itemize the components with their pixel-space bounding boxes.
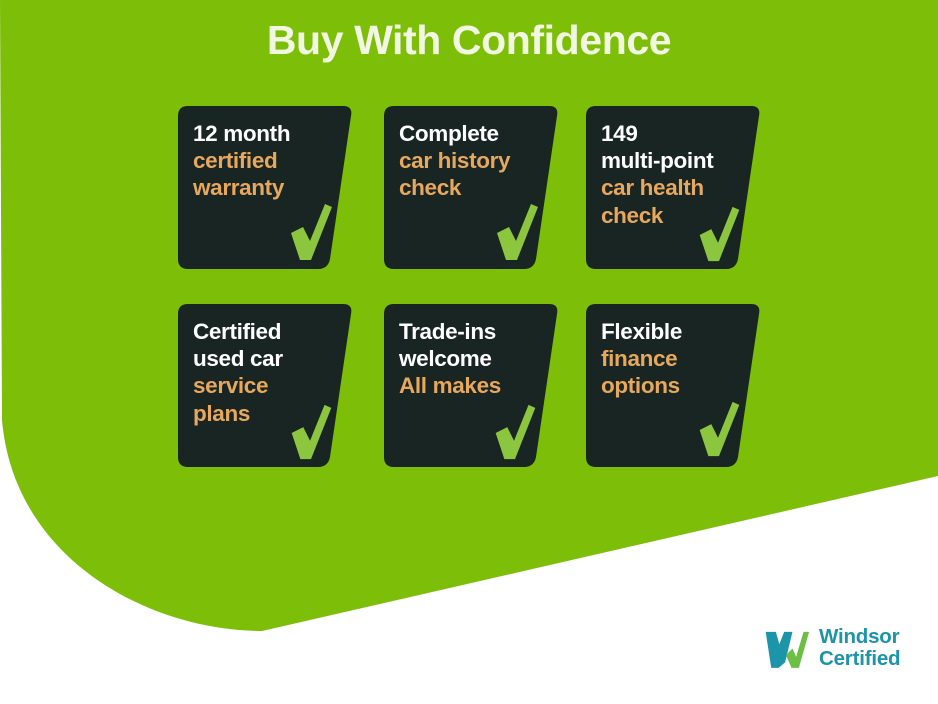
card-text-block: Flexible finance options bbox=[586, 304, 736, 400]
card-line-primary: Trade-ins bbox=[399, 318, 534, 345]
card-line-primary: Complete bbox=[399, 120, 534, 147]
feature-card-complete-car-history-check[interactable]: Complete car history check bbox=[384, 106, 559, 269]
card-text-block: Certified used car service plans bbox=[178, 304, 328, 427]
card-line-primary: welcome bbox=[399, 345, 534, 372]
card-line-secondary: service bbox=[193, 372, 328, 399]
card-line-primary: used car bbox=[193, 345, 328, 372]
card-line-secondary: options bbox=[601, 372, 736, 399]
card-line-secondary: certified bbox=[193, 147, 328, 174]
brand-logo[interactable]: Windsor Certified bbox=[762, 626, 900, 670]
page-title: Buy With Confidence bbox=[0, 18, 938, 64]
feature-card-twelve-month-certified-warranty[interactable]: 12 month certified warranty bbox=[178, 106, 353, 269]
card-line-primary: 12 month bbox=[193, 120, 328, 147]
card-text-block: 12 month certified warranty bbox=[178, 106, 328, 202]
card-text-block: Complete car history check bbox=[384, 106, 534, 202]
card-line-secondary: All makes bbox=[399, 372, 534, 399]
brand-line-windsor: Windsor bbox=[819, 626, 900, 648]
card-line-secondary: check bbox=[399, 174, 534, 201]
card-line-secondary: warranty bbox=[193, 174, 328, 201]
card-line-primary: Flexible bbox=[601, 318, 736, 345]
card-line-primary: multi-point bbox=[601, 147, 736, 174]
feature-card-row: Certified used car service plans Trade-i… bbox=[178, 304, 758, 502]
windsor-w-logo-icon bbox=[762, 627, 810, 670]
card-line-secondary: finance bbox=[601, 345, 736, 372]
card-line-primary: 149 bbox=[601, 120, 736, 147]
feature-card-grid: 12 month certified warranty Complete car… bbox=[178, 106, 758, 502]
poster-canvas: Buy With Confidence 12 month certified w… bbox=[0, 0, 938, 704]
card-line-secondary: plans bbox=[193, 400, 328, 427]
feature-card-trade-ins-welcome-all-makes[interactable]: Trade-ins welcome All makes bbox=[384, 304, 559, 467]
feature-card-149-multi-point-car-health-check[interactable]: 149 multi-point car health check bbox=[586, 106, 761, 269]
brand-wordmark: Windsor Certified bbox=[819, 626, 900, 670]
feature-card-flexible-finance-options[interactable]: Flexible finance options bbox=[586, 304, 761, 467]
card-line-primary: Certified bbox=[193, 318, 328, 345]
card-text-block: Trade-ins welcome All makes bbox=[384, 304, 534, 400]
feature-card-certified-used-car-service-plans[interactable]: Certified used car service plans bbox=[178, 304, 353, 467]
card-text-block: 149 multi-point car health check bbox=[586, 106, 736, 229]
card-line-secondary: car health bbox=[601, 174, 736, 201]
card-line-secondary: car history bbox=[399, 147, 534, 174]
card-line-secondary: check bbox=[601, 202, 736, 229]
feature-card-row: 12 month certified warranty Complete car… bbox=[178, 106, 758, 304]
brand-line-certified: Certified bbox=[819, 648, 900, 670]
